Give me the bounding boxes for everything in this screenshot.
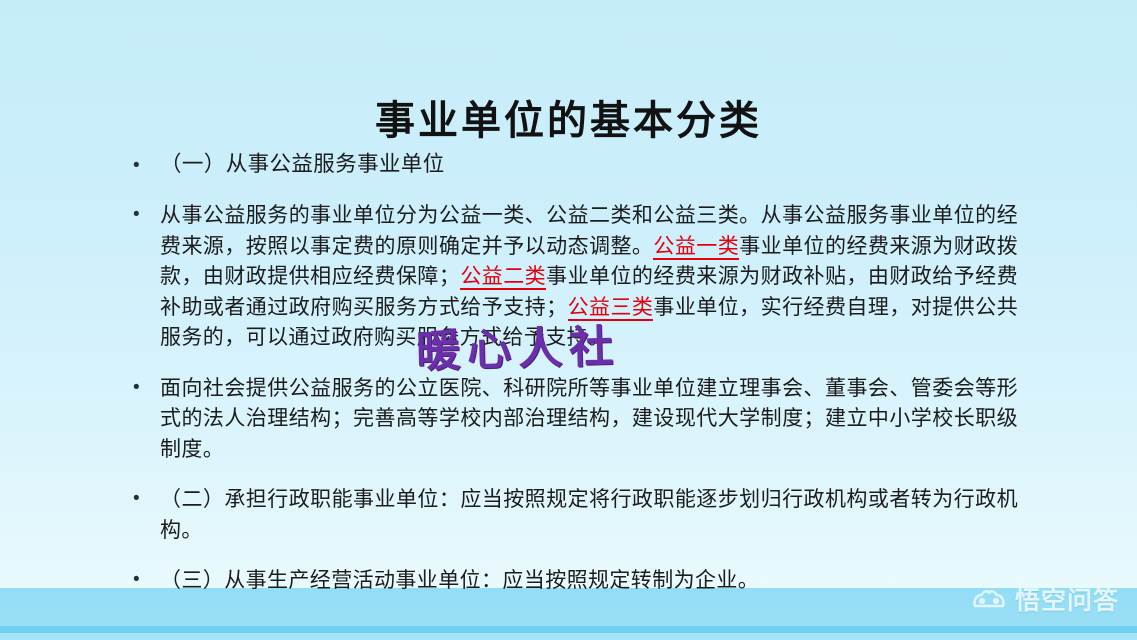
bullet-marker: • xyxy=(128,150,160,181)
bullet-marker: • xyxy=(128,373,160,403)
heading-section-three: （三）从事生产经营活动事业单位： xyxy=(160,568,502,592)
slide-title: 事业单位的基本分类 xyxy=(0,88,1137,146)
bullet-text-section-one: （一）从事公益服务事业单位 xyxy=(160,150,1018,181)
footer-base-band xyxy=(0,633,1137,640)
text-segment: 应当按照规定转制为企业。 xyxy=(502,568,759,592)
bullet-item-governance: • 面向社会提供公益服务的公立医院、科研院所等事业单位建立理事会、董事会、管委会… xyxy=(128,373,1018,465)
bullet-marker: • xyxy=(128,565,160,595)
paragraph-section-three: （三）从事生产经营活动事业单位：应当按照规定转制为企业。 xyxy=(160,565,1018,596)
heading-section-two: （二）承担行政职能事业单位： xyxy=(160,487,460,511)
bullet-item-section-one: • （一）从事公益服务事业单位 xyxy=(128,150,1018,181)
brush-watermark: 暖心人社 xyxy=(415,310,621,379)
text-segment: 面向社会提供公益服务的公立医院、科研院所等事业单位建立理事会、董事会、管委会等形… xyxy=(160,376,1018,461)
bullet-item-section-two: • （二）承担行政职能事业单位：应当按照规定将行政职能逐步划归行政机构或者转为行… xyxy=(128,484,1018,545)
highlight-gongyi-erlei: 公益二类 xyxy=(460,264,546,290)
paragraph-section-two: （二）承担行政职能事业单位：应当按照规定将行政职能逐步划归行政机构或者转为行政机… xyxy=(160,484,1018,545)
slide-body: • （一）从事公益服务事业单位 • 从事公益服务的事业单位分为公益一类、公益二类… xyxy=(128,150,1018,610)
footer-stripe xyxy=(0,626,1137,633)
highlight-gongyi-yilei: 公益一类 xyxy=(653,234,739,260)
paragraph-governance: 面向社会提供公益服务的公立医院、科研院所等事业单位建立理事会、董事会、管委会等形… xyxy=(160,373,1018,465)
bullet-marker: • xyxy=(128,484,160,514)
cloud-logo-icon xyxy=(972,588,1006,610)
bullet-item-section-three: • （三）从事生产经营活动事业单位：应当按照规定转制为企业。 xyxy=(128,565,1018,596)
wukong-qa-logo: 悟空问答 xyxy=(972,581,1119,617)
bullet-marker: • xyxy=(128,200,160,230)
presentation-slide: 事业单位的基本分类 • （一）从事公益服务事业单位 • 从事公益服务的事业单位分… xyxy=(0,0,1137,640)
logo-text: 悟空问答 xyxy=(1015,581,1119,617)
